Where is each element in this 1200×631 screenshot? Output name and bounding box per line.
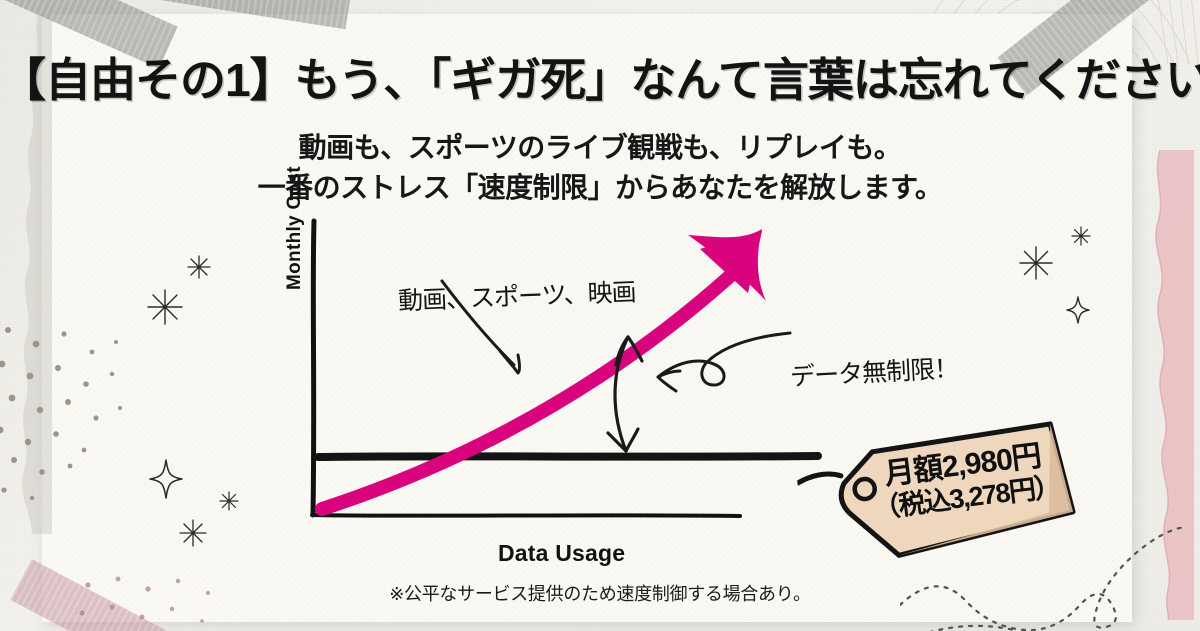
slide-canvas: 【自由その1】もう、「ギガ死」なんて言葉は忘れてください。 動画も、スポーツのラ…: [0, 0, 1200, 631]
chart-annotation-leader-unlimited: [658, 333, 790, 391]
chart-x-axis-label: Data Usage: [498, 540, 625, 567]
footnote-disclaimer: ※公平なサービス提供のため速度制御する場合あり。: [0, 580, 1200, 606]
cost-vs-usage-chart: [270, 215, 830, 555]
chart-y-axis-label: Monthly Cost: [284, 166, 306, 290]
chart-series-flat-rate: [318, 456, 818, 457]
chart-x-axis: [312, 515, 740, 516]
subtitle-line-2: 一番のストレス「速度制限」からあなたを解放します。: [0, 166, 1200, 206]
chart-y-axis: [313, 221, 314, 515]
subtitle-line-1: 動画も、スポーツのライブ観戦も、リプレイも。: [0, 126, 1200, 166]
price-tag-string: [797, 472, 841, 483]
chart-series-rising-cost: [322, 229, 766, 509]
page-title: 【自由その1】もう、「ギガ死」なんて言葉は忘れてください。: [0, 44, 1200, 110]
